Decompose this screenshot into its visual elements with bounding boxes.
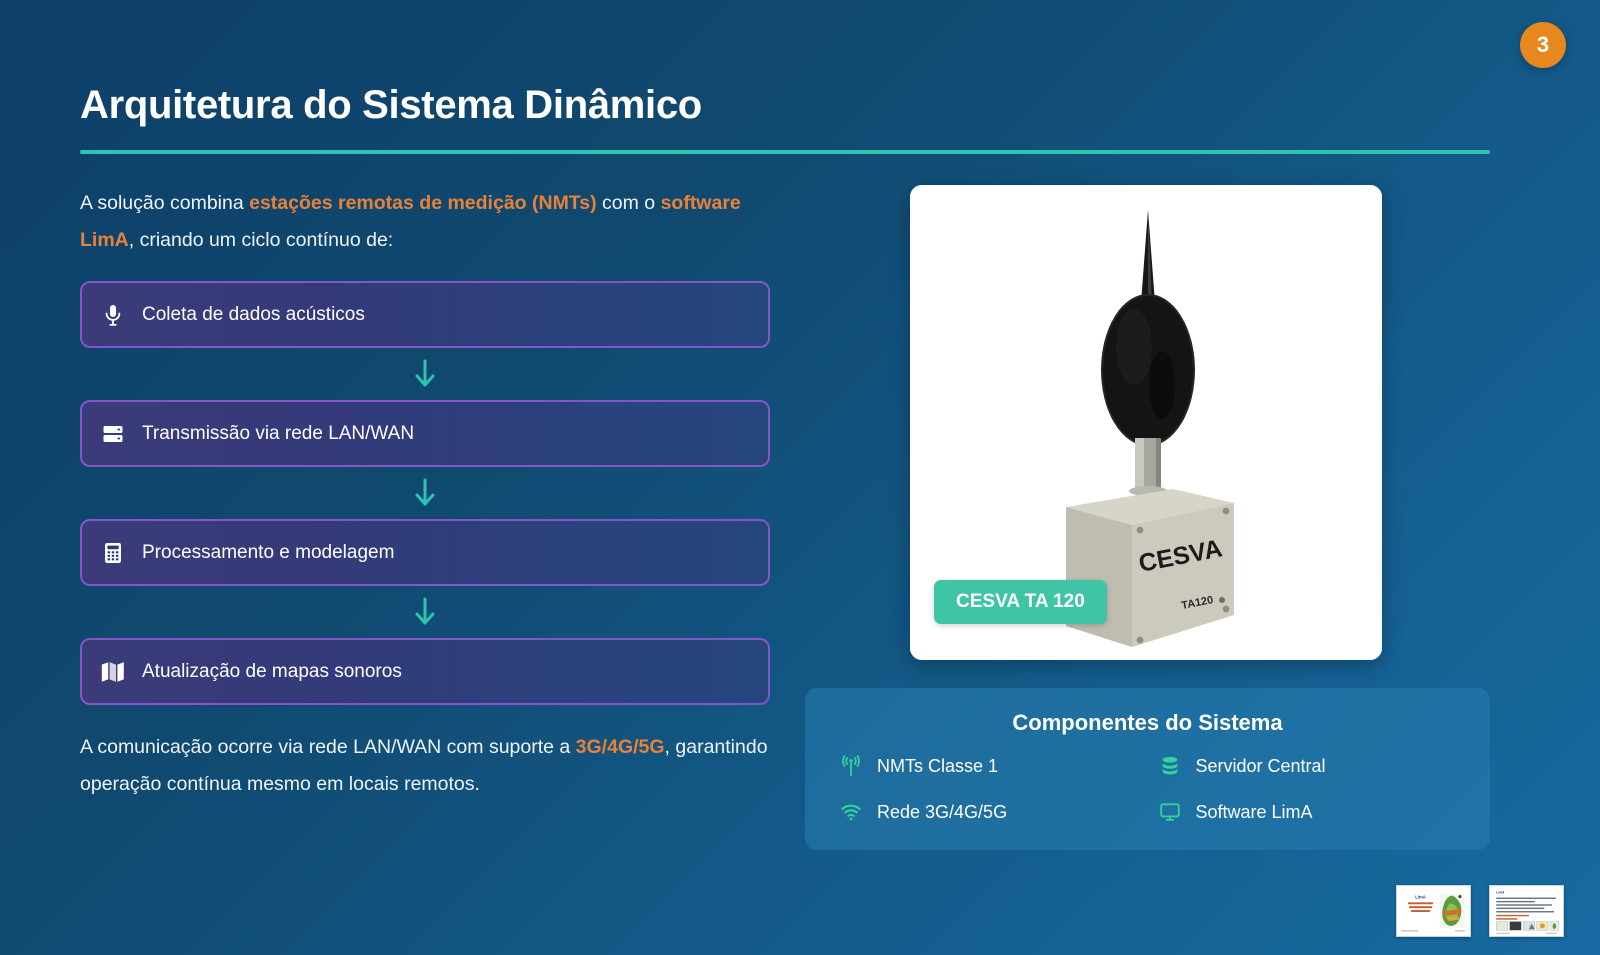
outro-highlight-network: 3G/4G/5G [576,736,665,758]
thumbnail-lima-map-slide[interactable]: LimA [1396,885,1471,937]
flow-step-label: Atualização de mapas sonoros [142,661,402,683]
arrow-down-icon [80,348,770,400]
flow-step-processamento[interactable]: Processamento e modelagem [80,519,770,586]
intro-text-part1: A solução combina [80,192,249,214]
intro-paragraph: A solução combina estações remotas de me… [80,185,770,259]
svg-text:LimA: LimA [1496,891,1505,895]
antenna-icon [839,754,863,778]
flow-step-coleta[interactable]: Coleta de dados acústicos [80,281,770,348]
title-block: Arquitetura do Sistema Dinâmico [80,82,1490,154]
server-icon [100,421,126,447]
thumbnail-strip: LimA LimA [1396,885,1564,937]
outro-text-part1: A comunicação ocorre via rede LAN/WAN co… [80,736,576,758]
flow-step-transmissao[interactable]: Transmissão via rede LAN/WAN [80,400,770,467]
flow-step-label: Coleta de dados acústicos [142,304,365,326]
svg-text:LimA: LimA [1415,895,1426,900]
wifi-icon [839,800,863,824]
flow-step-label: Processamento e modelagem [142,542,394,564]
arrow-down-icon [80,586,770,638]
components-panel-title: Componentes do Sistema [839,710,1456,736]
microphone-icon [100,302,126,328]
slide-number-value: 3 [1537,32,1549,58]
calculator-icon [100,540,126,566]
database-icon [1158,754,1182,778]
arrow-down-icon [80,467,770,519]
component-label: Servidor Central [1196,756,1326,777]
component-item-nmts: NMTs Classe 1 [839,754,1138,778]
map-icon [100,659,126,685]
title-divider [80,150,1490,154]
component-item-rede: Rede 3G/4G/5G [839,800,1138,824]
slide-number-badge: 3 [1520,22,1566,68]
photo-caption-text: CESVA TA 120 [956,591,1085,612]
components-panel: Componentes do Sistema NMTs Classe 1 [805,688,1490,850]
flow-step-mapas[interactable]: Atualização de mapas sonoros [80,638,770,705]
intro-text-part2: com o [597,192,661,214]
component-item-software: Software LimA [1158,800,1457,824]
component-label: Rede 3G/4G/5G [877,802,1007,823]
components-grid: NMTs Classe 1 Servidor Central [839,754,1456,824]
left-content-column: A solução combina estações remotas de me… [80,185,770,803]
component-label: NMTs Classe 1 [877,756,998,777]
intro-highlight-nmts: estações remotas de medição (NMTs) [249,192,597,214]
process-flow: Coleta de dados acústicos Transmissão vi… [80,281,770,705]
right-content-column: CESVA TA120 CESVA TA 120 Componentes do … [805,185,1520,850]
component-label: Software LimA [1196,802,1313,823]
device-photo-card: CESVA TA120 CESVA TA 120 [910,185,1382,660]
outro-paragraph: A comunicação ocorre via rede LAN/WAN co… [80,729,770,803]
thumbnail-text-slide[interactable]: LimA [1489,885,1564,937]
component-item-servidor: Servidor Central [1158,754,1457,778]
monitor-icon [1158,800,1182,824]
photo-caption-badge: CESVA TA 120 [934,580,1107,624]
flow-step-label: Transmissão via rede LAN/WAN [142,423,414,445]
intro-text-part3: , criando um ciclo contínuo de: [129,229,393,251]
page-title: Arquitetura do Sistema Dinâmico [80,82,1490,128]
